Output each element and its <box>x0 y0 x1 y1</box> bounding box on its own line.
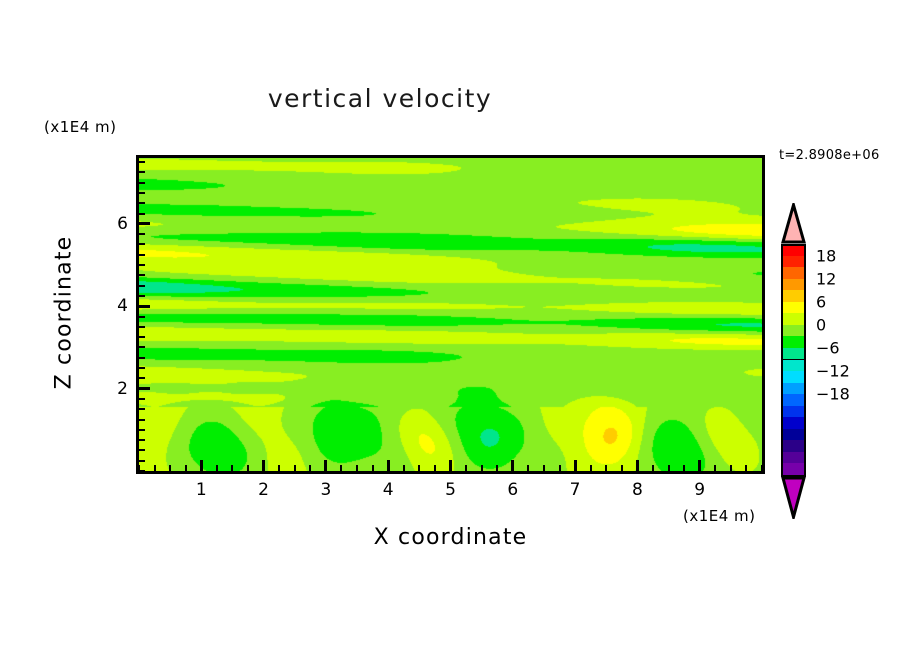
tick-major-x <box>574 460 577 471</box>
colorbar-bottom-arrow-icon <box>781 475 806 519</box>
tick-minor-y <box>139 213 145 215</box>
tick-minor-y <box>139 439 145 441</box>
tick-minor-x <box>185 465 187 471</box>
x-tick-label: 1 <box>196 480 207 500</box>
tick-minor-x <box>714 465 716 471</box>
tick-minor-x <box>761 465 763 471</box>
tick-minor-x <box>527 465 529 471</box>
figure-canvas: vertical velocity (x1E4 m) t=2.8908e+06 … <box>0 0 904 654</box>
tick-minor-y <box>139 202 145 204</box>
tick-minor-x <box>730 465 732 471</box>
tick-minor-x <box>434 465 436 471</box>
tick-minor-y <box>139 377 145 379</box>
tick-minor-y <box>139 419 145 421</box>
tick-minor-x <box>745 465 747 471</box>
tick-minor-x <box>683 465 685 471</box>
tick-major-y <box>139 222 150 225</box>
tick-minor-y <box>139 429 145 431</box>
contour-plot-area <box>136 155 765 474</box>
tick-minor-x <box>216 465 218 471</box>
y-tick-label: 2 <box>108 379 128 399</box>
tick-minor-y <box>139 357 145 359</box>
tick-minor-x <box>403 465 405 471</box>
tick-major-x <box>511 460 514 471</box>
tick-minor-x <box>154 465 156 471</box>
tick-minor-x <box>590 465 592 471</box>
colorbar-tick-label: 6 <box>816 292 826 311</box>
x-tick-label: 2 <box>258 480 269 500</box>
tick-minor-y <box>139 326 145 328</box>
tick-minor-y <box>139 264 145 266</box>
tick-minor-x <box>652 465 654 471</box>
tick-minor-y <box>139 295 145 297</box>
tick-minor-y <box>139 449 145 451</box>
tick-minor-x <box>340 465 342 471</box>
tick-minor-x <box>372 465 374 471</box>
tick-minor-y <box>139 274 145 276</box>
tick-minor-x <box>621 465 623 471</box>
tick-major-x <box>636 460 639 471</box>
tick-minor-y <box>139 336 145 338</box>
tick-minor-y <box>139 408 145 410</box>
tick-minor-y <box>139 182 145 184</box>
colorbar-tick-label: 0 <box>816 315 826 334</box>
y-axis-unit-label: (x1E4 m) <box>44 118 117 136</box>
tick-minor-y <box>139 233 145 235</box>
y-tick-label: 4 <box>108 296 128 316</box>
tick-major-x <box>324 460 327 471</box>
colorbar-tick-label: 18 <box>816 246 836 265</box>
x-tick-label: 6 <box>507 480 518 500</box>
contour-field <box>139 158 762 471</box>
tick-minor-x <box>496 465 498 471</box>
tick-minor-x <box>465 465 467 471</box>
tick-minor-x <box>294 465 296 471</box>
tick-minor-y <box>139 316 145 318</box>
x-tick-label: 7 <box>570 480 581 500</box>
tick-minor-y <box>139 243 145 245</box>
tick-major-x <box>449 460 452 471</box>
colorbar-tick-label: 12 <box>816 269 836 288</box>
tick-minor-y <box>139 192 145 194</box>
tick-major-y <box>139 387 150 390</box>
y-axis-title: Z coordinate <box>52 213 77 413</box>
tick-minor-y <box>139 460 145 462</box>
x-tick-label: 3 <box>320 480 331 500</box>
tick-minor-x <box>169 465 171 471</box>
tick-major-x <box>387 460 390 471</box>
tick-minor-y <box>139 398 145 400</box>
tick-minor-y <box>139 285 145 287</box>
y-tick-label: 6 <box>108 214 128 234</box>
colorbar <box>781 244 806 475</box>
tick-major-x <box>200 460 203 471</box>
tick-minor-y <box>139 171 145 173</box>
tick-minor-y <box>139 161 145 163</box>
tick-minor-x <box>247 465 249 471</box>
page-title: vertical velocity <box>0 84 760 113</box>
x-axis-unit-label: (x1E4 m) <box>683 507 756 525</box>
tick-minor-x <box>356 465 358 471</box>
tick-minor-x <box>605 465 607 471</box>
tick-major-x <box>262 460 265 471</box>
x-tick-label: 5 <box>445 480 456 500</box>
tick-minor-x <box>309 465 311 471</box>
tick-minor-x <box>543 465 545 471</box>
timestamp-label: t=2.8908e+06 <box>779 148 880 163</box>
tick-minor-y <box>139 254 145 256</box>
colorbar-tick-label: −18 <box>816 385 850 404</box>
tick-minor-y <box>139 346 145 348</box>
tick-minor-x <box>668 465 670 471</box>
tick-minor-x <box>418 465 420 471</box>
tick-minor-x <box>559 465 561 471</box>
tick-major-y <box>139 305 150 308</box>
x-tick-label: 8 <box>632 480 643 500</box>
colorbar-tick-label: −6 <box>816 338 840 357</box>
tick-minor-x <box>278 465 280 471</box>
tick-minor-y <box>139 470 145 472</box>
tick-minor-y <box>139 367 145 369</box>
x-axis-title: X coordinate <box>136 525 765 550</box>
colorbar-top-arrow-icon <box>781 203 806 244</box>
tick-minor-x <box>231 465 233 471</box>
x-tick-label: 4 <box>383 480 394 500</box>
tick-minor-x <box>481 465 483 471</box>
tick-major-x <box>698 460 701 471</box>
colorbar-tick-label: −12 <box>816 362 850 381</box>
x-tick-label: 9 <box>694 480 705 500</box>
